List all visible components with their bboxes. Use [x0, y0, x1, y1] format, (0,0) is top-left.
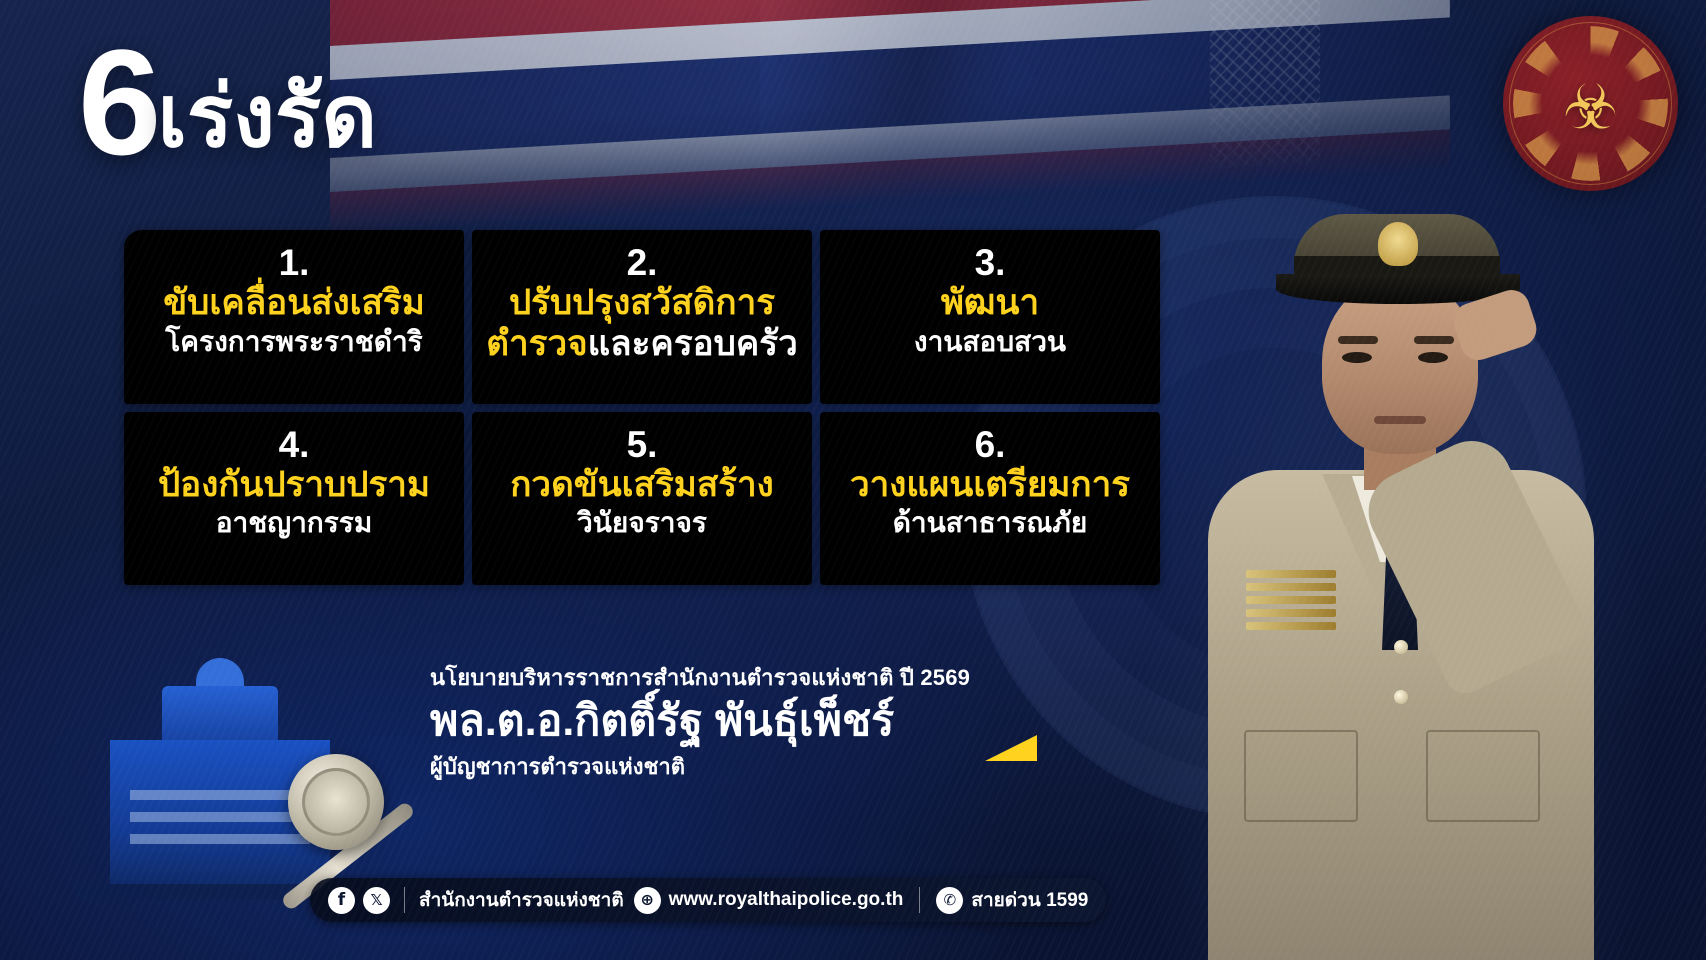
card-2-headline: ปรับปรุงสวัสดิการ — [509, 283, 775, 324]
officer-mouth — [1374, 416, 1426, 424]
building-dome — [196, 658, 244, 688]
building-window-row-3 — [130, 834, 310, 844]
card-4[interactable]: 4. ป้องกันปราบปราม อาชญากรรม — [124, 412, 464, 586]
building-window-row-1 — [130, 790, 310, 800]
card-5-headline: กวดขันเสริมสร้าง — [510, 465, 774, 506]
commissioner-name: พล.ต.อ.กิตติ์รัฐ พันธุ์เพ็ชร์ — [430, 697, 1050, 745]
royal-thai-police-emblem-icon: ☣ — [1503, 16, 1678, 191]
officer-brow-right — [1414, 336, 1454, 344]
footer-website-url[interactable]: www.royalthaipolice.go.th — [669, 889, 904, 911]
phone-icon[interactable]: ✆ — [936, 887, 963, 914]
police-commissioner-photo — [1126, 170, 1666, 960]
policy-text-block: นโยบายบริหารราชการสำนักงานตำรวจแห่งชาติ … — [430, 660, 1050, 784]
footer-hotline-text: สายด่วน 1599 — [971, 885, 1088, 915]
officer-brow-left — [1338, 336, 1378, 344]
card-2-number: 2. — [627, 244, 658, 281]
footer-website-segment[interactable]: ⊕ www.royalthaipolice.go.th — [634, 887, 904, 914]
policy-heading: นโยบายบริหารราชการสำนักงานตำรวจแห่งชาติ … — [430, 660, 1050, 695]
x-twitter-icon[interactable]: 𝕏 — [363, 887, 390, 914]
card-5-number: 5. — [627, 426, 658, 463]
card-5-subtitle: วินัยจราจร — [577, 506, 707, 540]
footer-divider-2 — [919, 887, 920, 913]
officer-button-1 — [1394, 640, 1408, 654]
card-2[interactable]: 2. ปรับปรุงสวัสดิการ ตำรวจและครอบครัว — [472, 230, 812, 404]
card-4-headline: ป้องกันปราบปราม — [158, 465, 430, 506]
police-medal-icon — [288, 754, 384, 850]
building-tower — [162, 686, 278, 742]
card-2-headline2-plain: และครอบครัว — [588, 324, 798, 363]
officer-eye-left — [1342, 352, 1372, 363]
officer-face — [1322, 278, 1478, 454]
title-number: 6 — [78, 36, 155, 168]
card-3-subtitle: งานสอบสวน — [914, 325, 1066, 359]
officer-ribbon-bars — [1246, 570, 1336, 690]
page-title: 6 เร่งรัด — [78, 36, 377, 168]
globe-icon[interactable]: ⊕ — [634, 887, 661, 914]
card-6[interactable]: 6. วางแผนเตรียมการ ด้านสาธารณภัย — [820, 412, 1160, 586]
card-2-headline2: ตำรวจ — [486, 324, 587, 363]
facebook-icon[interactable]: f — [328, 887, 355, 914]
card-4-number: 4. — [279, 426, 310, 463]
footer-social-segment[interactable]: f 𝕏 สำนักงานตำรวจแห่งชาติ — [328, 885, 624, 915]
building-window-row-2 — [130, 812, 310, 822]
card-1-number: 1. — [279, 244, 310, 281]
card-3[interactable]: 3. พัฒนา งานสอบสวน — [820, 230, 1160, 404]
footer-social-label: สำนักงานตำรวจแห่งชาติ — [419, 885, 624, 915]
card-1-subtitle: โครงการพระราชดำริ — [165, 325, 422, 359]
card-4-subtitle: อาชญากรรม — [216, 506, 373, 540]
officer-eye-right — [1418, 352, 1448, 363]
card-2-headline-second-line: ตำรวจและครอบครัว — [486, 324, 797, 365]
infographic-poster: 6 เร่งรัด ☣ 1. ขับเคลื่อนส่งเสริม โครงกา… — [0, 0, 1706, 960]
footer-divider-1 — [404, 887, 405, 913]
commissioner-role: ผู้บัญชาการตำรวจแห่งชาติ — [430, 749, 1050, 784]
officer-cap-badge-icon — [1378, 222, 1418, 266]
title-word: เร่งรัด — [157, 74, 377, 160]
officer-button-2 — [1394, 690, 1408, 704]
officer-pocket-right — [1426, 730, 1540, 822]
priority-cards-grid: 1. ขับเคลื่อนส่งเสริม โครงการพระราชดำริ … — [124, 230, 1160, 585]
card-3-number: 3. — [975, 244, 1006, 281]
footer-contact-bar: f 𝕏 สำนักงานตำรวจแห่งชาติ ⊕ www.royaltha… — [310, 878, 1106, 922]
emblem-inner: ☣ — [1503, 16, 1678, 191]
card-1-headline: ขับเคลื่อนส่งเสริม — [163, 283, 425, 324]
card-6-number: 6. — [975, 426, 1006, 463]
emblem-figure-icon: ☣ — [1563, 71, 1619, 144]
card-6-headline: วางแผนเตรียมการ — [850, 465, 1130, 506]
card-6-subtitle: ด้านสาธารณภัย — [893, 506, 1088, 540]
flag-pattern-overlay — [1210, 0, 1320, 169]
flag-fold-shading — [760, 0, 1010, 212]
card-3-headline: พัฒนา — [941, 283, 1039, 324]
card-1[interactable]: 1. ขับเคลื่อนส่งเสริม โครงการพระราชดำริ — [124, 230, 464, 404]
footer-hotline-segment[interactable]: ✆ สายด่วน 1599 — [936, 885, 1088, 915]
card-5[interactable]: 5. กวดขันเสริมสร้าง วินัยจราจร — [472, 412, 812, 586]
officer-pocket-left — [1244, 730, 1358, 822]
